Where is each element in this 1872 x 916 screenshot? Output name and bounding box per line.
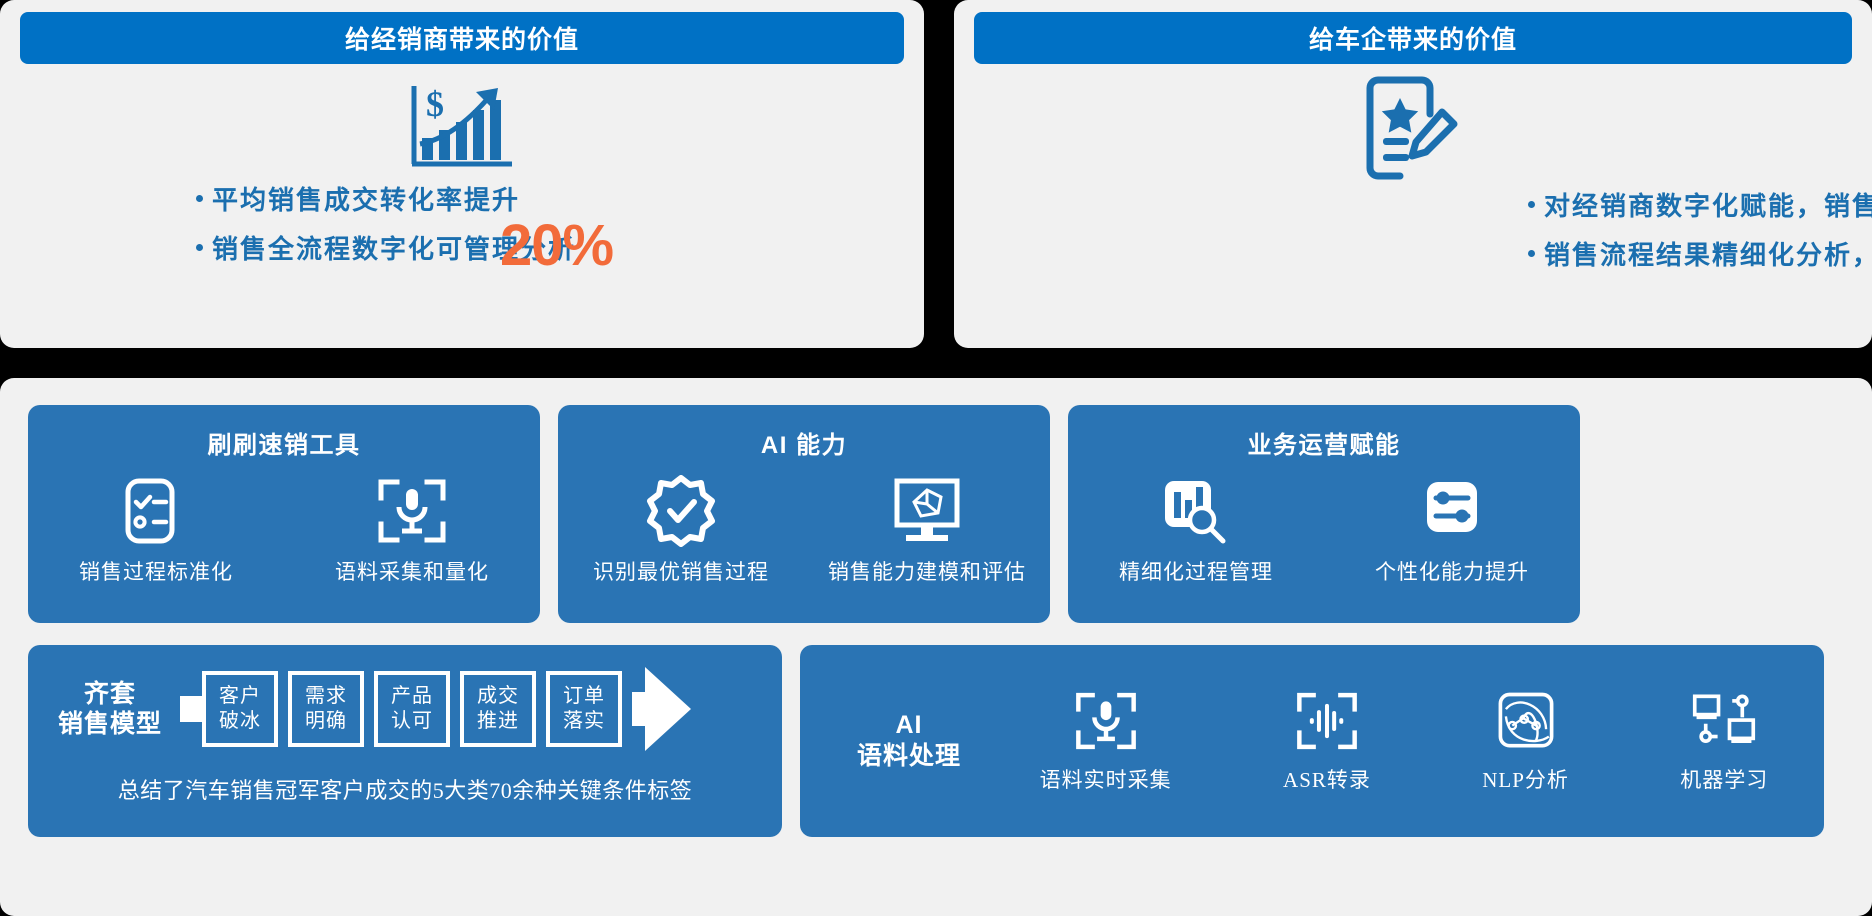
feature-label: 精细化过程管理	[1119, 556, 1273, 586]
step-line2: 落实	[563, 709, 605, 734]
corpus-item-label: 机器学习	[1680, 764, 1768, 794]
bullet-dot-icon	[196, 244, 203, 251]
card-body-dealer: $ 平均销售成交转化率提升 销售全流程数字化可管理分析 20%	[0, 64, 924, 342]
microphone-focus-icon	[1073, 688, 1139, 754]
value-card-oem: 给车企带来的价值 对经销商数字化赋能，销售落地	[954, 0, 1872, 348]
corpus-item-label: NLP分析	[1482, 764, 1569, 794]
bullet-list-oem: 对经销商数字化赋能，销售落地效果提升 销售流程结果精细化分析，反哺提升策略	[954, 186, 1872, 272]
corpus-item-asr: ASR转录	[1283, 688, 1371, 794]
corpus-item-label: 语料实时采集	[1040, 764, 1172, 794]
svg-text:$: $	[426, 84, 444, 124]
corpus-label: AI 语料处理	[834, 710, 984, 773]
slide-canvas: 给经销商带来的价值	[0, 0, 1872, 916]
panel-operations: 业务运营赋能	[1068, 405, 1580, 623]
step-line1: 需求	[305, 684, 347, 709]
feature-process-management: 精细化过程管理	[1068, 474, 1324, 586]
panel-corpus-processing: AI 语料处理	[800, 645, 1824, 837]
corpus-item-nlp: NLP分析	[1482, 688, 1569, 794]
bullet-dot-icon	[196, 195, 203, 202]
step-line2: 破冰	[219, 709, 261, 734]
flow-connector-icon	[180, 696, 202, 722]
corpus-item-realtime-collection: 语料实时采集	[1040, 688, 1172, 794]
panel-title-tools: 刷刷速销工具	[28, 405, 540, 460]
microphone-focus-icon	[375, 474, 449, 548]
feature-capability-modeling: 销售能力建模和评估	[804, 474, 1050, 586]
sales-model-caption: 总结了汽车销售冠军客户成交的5大类70余种关键条件标签	[28, 773, 782, 805]
sales-model-step: 成交 推进	[460, 671, 536, 747]
step-line2: 认可	[391, 709, 433, 734]
panel-title-ai: AI 能力	[558, 405, 1050, 460]
panel-ai: AI 能力 识别最优销售过程	[558, 405, 1050, 623]
corpus-label-line2: 语料处理	[834, 741, 984, 772]
arrow-tail-icon	[632, 692, 646, 726]
step-line1: 客户	[219, 684, 261, 709]
sales-model-label-line2: 销售模型	[50, 709, 170, 740]
highlight-percentage: 20%	[500, 212, 613, 279]
bullet-item: 销售流程结果精细化分析，反哺提升策略	[1528, 235, 1872, 272]
capabilities-container: 刷刷速销工具	[0, 378, 1872, 916]
sales-model-step: 客户 破冰	[202, 671, 278, 747]
value-cards-row: 给经销商带来的价值	[0, 0, 1872, 348]
feature-label: 销售过程标准化	[79, 556, 233, 586]
sales-model-flow: 齐套 销售模型 客户 破冰	[28, 645, 782, 751]
waveform-focus-icon	[1294, 688, 1360, 754]
sales-model-label-line1: 齐套	[50, 679, 170, 710]
bar-chart-search-icon	[1159, 474, 1233, 548]
feature-personalized-improvement: 个性化能力提升	[1324, 474, 1580, 586]
badge-check-icon	[644, 474, 718, 548]
growth-chart-dollar-icon: $	[0, 64, 924, 174]
step-line1: 订单	[563, 684, 605, 709]
value-card-dealer: 给经销商带来的价值	[0, 0, 924, 348]
feature-label: 语料采集和量化	[335, 556, 489, 586]
checklist-icon	[123, 474, 189, 548]
feature-label: 个性化能力提升	[1375, 556, 1529, 586]
bullet-item: 对经销商数字化赋能，销售落地效果提升	[1528, 186, 1872, 223]
corpus-items: 语料实时采集	[984, 688, 1824, 794]
detail-panels-row: 齐套 销售模型 客户 破冰	[28, 645, 1844, 837]
sliders-settings-icon	[1419, 474, 1485, 548]
feature-label: 识别最优销售过程	[593, 556, 769, 586]
panel-title-operations: 业务运营赋能	[1068, 405, 1580, 460]
bullet-list-dealer: 平均销售成交转化率提升 销售全流程数字化可管理分析	[0, 180, 924, 266]
feature-sales-standardization: 销售过程标准化	[28, 474, 284, 586]
step-line2: 明确	[305, 709, 347, 734]
step-line1: 产品	[391, 684, 433, 709]
monitor-3d-model-icon	[890, 474, 964, 548]
arrow-right-icon	[645, 667, 691, 751]
certificate-star-edit-icon	[954, 64, 1872, 180]
sales-model-steps: 客户 破冰 需求 明确	[202, 667, 691, 751]
nlp-graph-icon	[1493, 688, 1559, 754]
feature-corpus-collection: 语料采集和量化	[284, 474, 540, 586]
card-body-oem: 对经销商数字化赋能，销售落地效果提升 销售流程结果精细化分析，反哺提升策略	[954, 64, 1872, 342]
feature-label: 销售能力建模和评估	[828, 556, 1026, 586]
step-line2: 推进	[477, 709, 519, 734]
step-line1: 成交	[477, 684, 519, 709]
machine-learning-nodes-icon	[1689, 688, 1759, 754]
corpus-label-line1: AI	[834, 710, 984, 741]
bullet-text: 平均销售成交转化率提升	[212, 180, 520, 217]
bullet-text: 对经销商数字化赋能，销售落地效果提升	[1544, 186, 1872, 223]
capability-panels-row: 刷刷速销工具	[28, 405, 1844, 623]
sales-model-step: 订单 落实	[546, 671, 622, 747]
bullet-dot-icon	[1528, 250, 1535, 257]
card-title-oem: 给车企带来的价值	[1309, 20, 1517, 56]
sales-model-label: 齐套 销售模型	[50, 679, 170, 740]
bullet-text: 销售流程结果精细化分析，反哺提升策略	[1544, 235, 1872, 272]
panel-sales-model: 齐套 销售模型 客户 破冰	[28, 645, 782, 837]
panel-tools: 刷刷速销工具	[28, 405, 540, 623]
card-header-oem: 给车企带来的价值	[974, 12, 1852, 64]
corpus-item-machine-learning: 机器学习	[1680, 688, 1768, 794]
card-header-dealer: 给经销商带来的价值	[20, 12, 904, 64]
feature-optimal-process: 识别最优销售过程	[558, 474, 804, 586]
corpus-item-label: ASR转录	[1283, 764, 1371, 794]
sales-model-step: 需求 明确	[288, 671, 364, 747]
sales-model-step: 产品 认可	[374, 671, 450, 747]
bullet-dot-icon	[1528, 201, 1535, 208]
card-title-dealer: 给经销商带来的价值	[345, 20, 579, 56]
